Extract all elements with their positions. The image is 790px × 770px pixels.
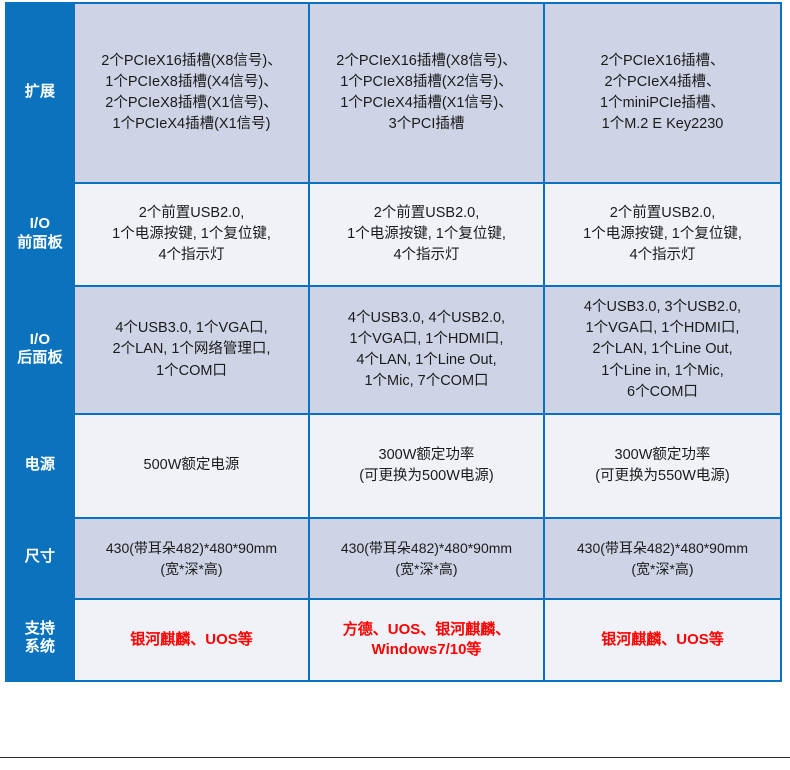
row-label-io-front-panel-text: I/O 前面板: [17, 215, 63, 252]
cell-io-rear-model-2: 4个USB3.0, 4个USB2.0, 1个VGA口, 1个HDMI口, 4个L…: [310, 287, 545, 413]
table-row-dimensions: 430(带耳朵482)*480*90mm (宽*深*高) 430(带耳朵482)…: [75, 519, 780, 600]
bottom-divider: [0, 757, 790, 758]
row-label-io-rear-panel-text: I/O 后面板: [17, 331, 63, 368]
row-label-io-rear-panel: I/O 后面板: [5, 285, 75, 413]
cell-dimensions-model-1: 430(带耳朵482)*480*90mm (宽*深*高): [75, 519, 310, 598]
cell-io-front-model-2: 2个前置USB2.0, 1个电源按键, 1个复位键, 4个指示灯: [310, 184, 545, 285]
cell-supported-os-model-1: 银河麒麟、UOS等: [75, 600, 310, 680]
table-row-io-rear-panel: 4个USB3.0, 1个VGA口, 2个LAN, 1个网络管理口, 1个COM口…: [75, 287, 780, 415]
row-label-supported-os: 支持 系统: [5, 598, 75, 678]
row-label-expansion: 扩展: [5, 2, 75, 182]
spec-comparison-sheet: 扩展 I/O 前面板 I/O 后面板 电源 尺寸 支持 系统 2个PCIeX16…: [0, 0, 790, 770]
cell-io-front-model-3: 2个前置USB2.0, 1个电源按键, 1个复位键, 4个指示灯: [545, 184, 780, 285]
cell-io-front-model-1: 2个前置USB2.0, 1个电源按键, 1个复位键, 4个指示灯: [75, 184, 310, 285]
cell-io-rear-model-3: 4个USB3.0, 3个USB2.0, 1个VGA口, 1个HDMI口, 2个L…: [545, 287, 780, 413]
cell-power-model-2: 300W额定功率 (可更换为500W电源): [310, 415, 545, 517]
cell-power-model-1: 500W额定电源: [75, 415, 310, 517]
cell-dimensions-model-2: 430(带耳朵482)*480*90mm (宽*深*高): [310, 519, 545, 598]
row-label-dimensions: 尺寸: [5, 517, 75, 598]
row-label-expansion-text: 扩展: [25, 83, 55, 101]
cell-expansion-model-3: 2个PCIeX16插槽、 2个PCIeX4插槽、 1个miniPCIe插槽、 1…: [545, 4, 780, 182]
row-label-power-supply-text: 电源: [25, 456, 55, 474]
cell-expansion-model-2: 2个PCIeX16插槽(X8信号)、 1个PCIeX8插槽(X2信号)、 1个P…: [310, 4, 545, 182]
row-label-power-supply: 电源: [5, 413, 75, 517]
row-label-supported-os-text: 支持 系统: [25, 620, 55, 657]
cell-expansion-model-1: 2个PCIeX16插槽(X8信号)、 1个PCIeX8插槽(X4信号)、 2个P…: [75, 4, 310, 182]
table-row-expansion: 2个PCIeX16插槽(X8信号)、 1个PCIeX8插槽(X4信号)、 2个P…: [75, 4, 780, 184]
row-label-io-front-panel: I/O 前面板: [5, 182, 75, 285]
cell-dimensions-model-3: 430(带耳朵482)*480*90mm (宽*深*高): [545, 519, 780, 598]
row-label-band: 扩展 I/O 前面板 I/O 后面板 电源 尺寸 支持 系统: [5, 2, 75, 682]
table-row-power-supply: 500W额定电源 300W额定功率 (可更换为500W电源) 300W额定功率 …: [75, 415, 780, 519]
spec-data-grid: 2个PCIeX16插槽(X8信号)、 1个PCIeX8插槽(X4信号)、 2个P…: [75, 2, 782, 682]
table-row-io-front-panel: 2个前置USB2.0, 1个电源按键, 1个复位键, 4个指示灯 2个前置USB…: [75, 184, 780, 287]
table-row-supported-os: 银河麒麟、UOS等 方德、UOS、银河麒麟、 Windows7/10等 银河麒麟…: [75, 600, 780, 680]
cell-power-model-3: 300W额定功率 (可更换为550W电源): [545, 415, 780, 517]
cell-supported-os-model-2: 方德、UOS、银河麒麟、 Windows7/10等: [310, 600, 545, 680]
cell-supported-os-model-3: 银河麒麟、UOS等: [545, 600, 780, 680]
row-label-dimensions-text: 尺寸: [25, 548, 55, 566]
spec-table: 扩展 I/O 前面板 I/O 后面板 电源 尺寸 支持 系统 2个PCIeX16…: [5, 2, 782, 682]
cell-io-rear-model-1: 4个USB3.0, 1个VGA口, 2个LAN, 1个网络管理口, 1个COM口: [75, 287, 310, 413]
